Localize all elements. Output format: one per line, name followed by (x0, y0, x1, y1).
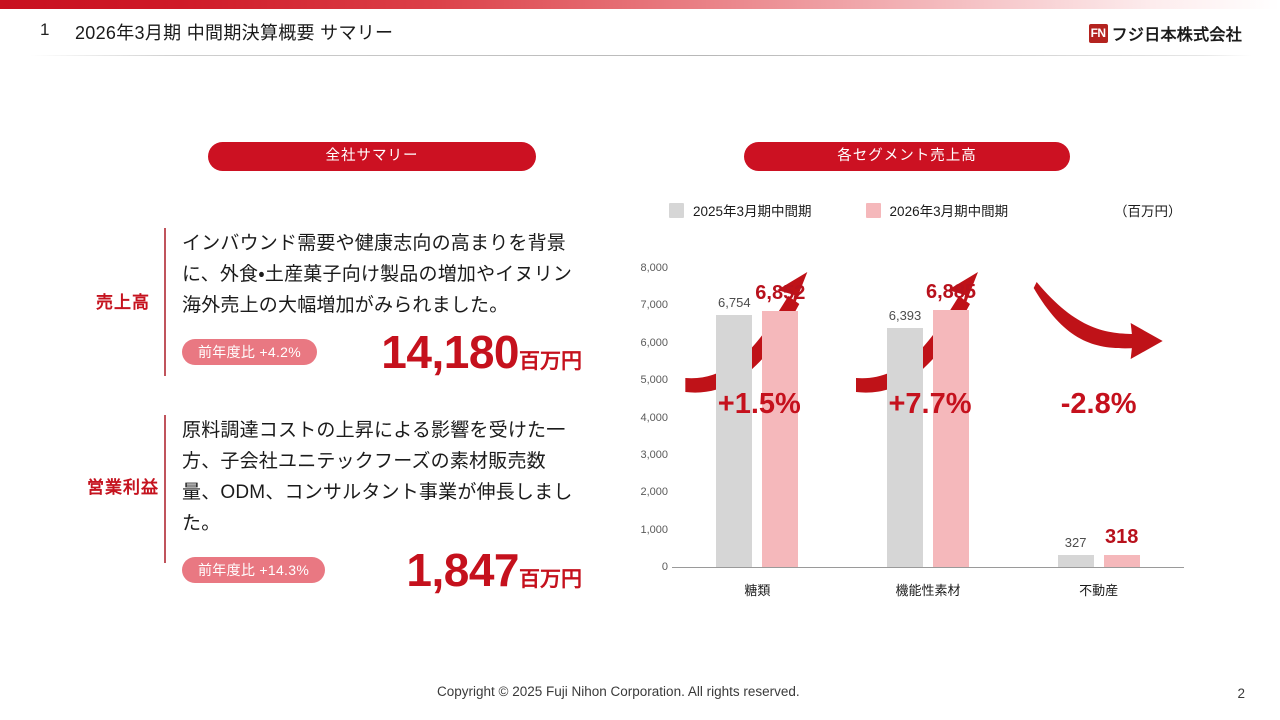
legend-swatch-icon-prev (669, 203, 684, 218)
legend-item-curr: 2026年3月期中間期 (866, 200, 1009, 220)
legend-label-prev: 2025年3月期中間期 (693, 200, 812, 220)
kpi-value-unit-sales: 百万円 (519, 350, 582, 373)
top-gradient-bar (0, 0, 1280, 9)
chart-category-label: 糖類 (744, 580, 770, 599)
chart-plot-area: 8,0007,0006,0005,0004,0003,0002,0001,000… (620, 250, 1220, 575)
y-axis-tick: 8,000 (620, 262, 668, 274)
chart-bar (716, 315, 752, 567)
chart-delta-annotation: +1.5% (718, 388, 801, 421)
slide-header: 1 2026年3月期 中間期決算概要 サマリー FN フジ日本株式会社 (0, 9, 1280, 55)
legend-swatch-icon-curr (866, 203, 881, 218)
left-panel-title-pill: 全社サマリー (208, 142, 536, 171)
chart-bar (887, 328, 923, 567)
legend-item-prev: 2025年3月期中間期 (669, 200, 812, 220)
chart-bar-value-label: 318 (1105, 526, 1138, 549)
kpi-body-sales: インバウンド需要や健康志向の高まりを背景に、外食・土産菓子向け製品の増加やイヌリ… (182, 228, 582, 379)
footer-copyright: Copyright © 2025 Fuji Nihon Corporation.… (437, 684, 800, 699)
y-axis-tick: 3,000 (620, 449, 668, 461)
chart-bar-value-label: 6,852 (755, 282, 805, 305)
chart-delta-annotation: -2.8% (1061, 388, 1137, 421)
y-axis-tick: 2,000 (620, 486, 668, 498)
y-axis-tick: 5,000 (620, 374, 668, 386)
kpi-footer-operating-profit: 前年度比 +14.3% 1,847百万円 (182, 545, 582, 597)
kpi-footer-sales: 前年度比 +4.2% 14,180百万円 (182, 327, 582, 379)
right-panel-title-pill: 各セグメント売上高 (744, 142, 1070, 171)
segment-sales-chart: 2025年3月期中間期 2026年3月期中間期 （百万円） 8,0007,000… (620, 190, 1220, 610)
legend-label-curr: 2026年3月期中間期 (890, 200, 1009, 220)
kpi-value-sales: 14,180百万円 (381, 327, 582, 389)
kpi-badge-sales: 前年度比 +4.2% (182, 339, 317, 365)
slide-number: 1 (40, 20, 50, 40)
chart-bar (933, 310, 969, 567)
kpi-value-number-sales: 14,180 (381, 326, 519, 378)
trend-arrow-down-icon (1034, 282, 1163, 359)
kpi-accent-rule (164, 415, 166, 563)
slide-root: 1 2026年3月期 中間期決算概要 サマリー FN フジ日本株式会社 全社サマ… (0, 0, 1280, 720)
kpi-value-unit-operating-profit: 百万円 (519, 568, 582, 591)
chart-delta-annotation: +7.7% (888, 388, 971, 421)
kpi-label-sales: 売上高 (78, 288, 168, 313)
kpi-accent-rule (164, 228, 166, 376)
y-axis-tick: 0 (620, 561, 668, 573)
kpi-badge-operating-profit: 前年度比 +14.3% (182, 557, 325, 583)
company-logo: FN フジ日本株式会社 (1089, 21, 1242, 45)
kpi-description-sales: インバウンド需要や健康志向の高まりを背景に、外食・土産菓子向け製品の増加やイヌリ… (182, 228, 582, 321)
logo-company-name: フジ日本株式会社 (1112, 21, 1242, 45)
header-divider (30, 55, 1252, 56)
y-axis-tick: 1,000 (620, 524, 668, 536)
y-axis-tick: 4,000 (620, 412, 668, 424)
chart-bar-value-label: 6,754 (718, 295, 751, 310)
chart-bar-value-label: 6,885 (926, 281, 976, 304)
chart-bar (762, 311, 798, 567)
chart-unit-note: （百万円） (1114, 200, 1182, 220)
y-axis-tick: 6,000 (620, 337, 668, 349)
chart-bar-value-label: 327 (1065, 535, 1087, 550)
chart-bar (1058, 555, 1094, 567)
y-axis-tick: 7,000 (620, 299, 668, 311)
chart-category-label: 機能性素材 (895, 580, 960, 599)
kpi-label-operating-profit: 営業利益 (78, 473, 168, 498)
chart-category-label: 不動産 (1079, 580, 1118, 599)
chart-bar (1104, 555, 1140, 567)
kpi-value-operating-profit: 1,847百万円 (406, 545, 582, 607)
chart-x-axis (672, 567, 1184, 568)
chart-bar-value-label: 6,393 (889, 308, 922, 323)
kpi-value-number-operating-profit: 1,847 (406, 544, 519, 596)
kpi-description-operating-profit: 原料調達コストの上昇による影響を受けた一方、子会社ユニテックフーズの素材販売数量… (182, 415, 582, 539)
kpi-body-operating-profit: 原料調達コストの上昇による影響を受けた一方、子会社ユニテックフーズの素材販売数量… (182, 415, 582, 597)
footer-page-number: 2 (1237, 686, 1245, 701)
chart-legend: 2025年3月期中間期 2026年3月期中間期 (669, 200, 1008, 220)
page-title: 2026年3月期 中間期決算概要 サマリー (75, 19, 393, 45)
logo-mark-icon: FN (1089, 24, 1108, 43)
